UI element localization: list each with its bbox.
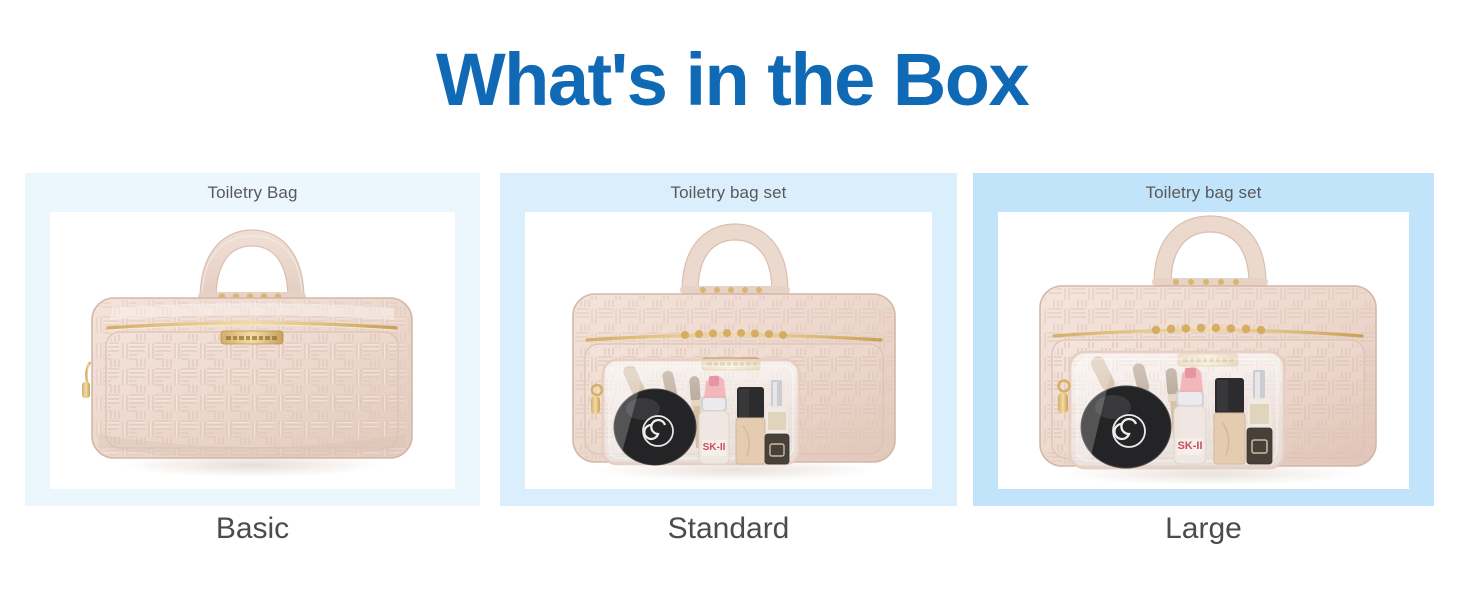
product-photo-basic (50, 212, 455, 489)
product-cards-row: Toiletry Bag (0, 173, 1464, 506)
clear-pouch-icon: SK-II (1058, 352, 1284, 468)
tier-label-standard: Standard (500, 512, 957, 545)
toiletry-bag-set-large-icon: SK-II (998, 212, 1409, 489)
tier-label-basic: Basic (25, 512, 480, 545)
card-header-standard: Toiletry bag set (500, 173, 957, 212)
toiletry-bag-icon (50, 212, 455, 489)
tier-label-large: Large (973, 512, 1434, 545)
toiletry-bag-set-icon: SK-II (525, 212, 932, 489)
product-card-standard[interactable]: Toiletry bag set (500, 173, 957, 506)
product-photo-large: SK-II (998, 212, 1409, 489)
clear-pouch-icon: SK-II (591, 360, 799, 465)
card-header-large: Toiletry bag set (973, 173, 1434, 212)
product-photo-standard: SK-II (525, 212, 932, 489)
page-title: What's in the Box (0, 43, 1464, 117)
product-card-large[interactable]: Toiletry bag set (973, 173, 1434, 506)
card-header-basic: Toiletry Bag (25, 173, 480, 212)
infographic-page: What's in the Box Toiletry Bag (0, 0, 1464, 600)
product-card-basic[interactable]: Toiletry Bag (25, 173, 480, 506)
